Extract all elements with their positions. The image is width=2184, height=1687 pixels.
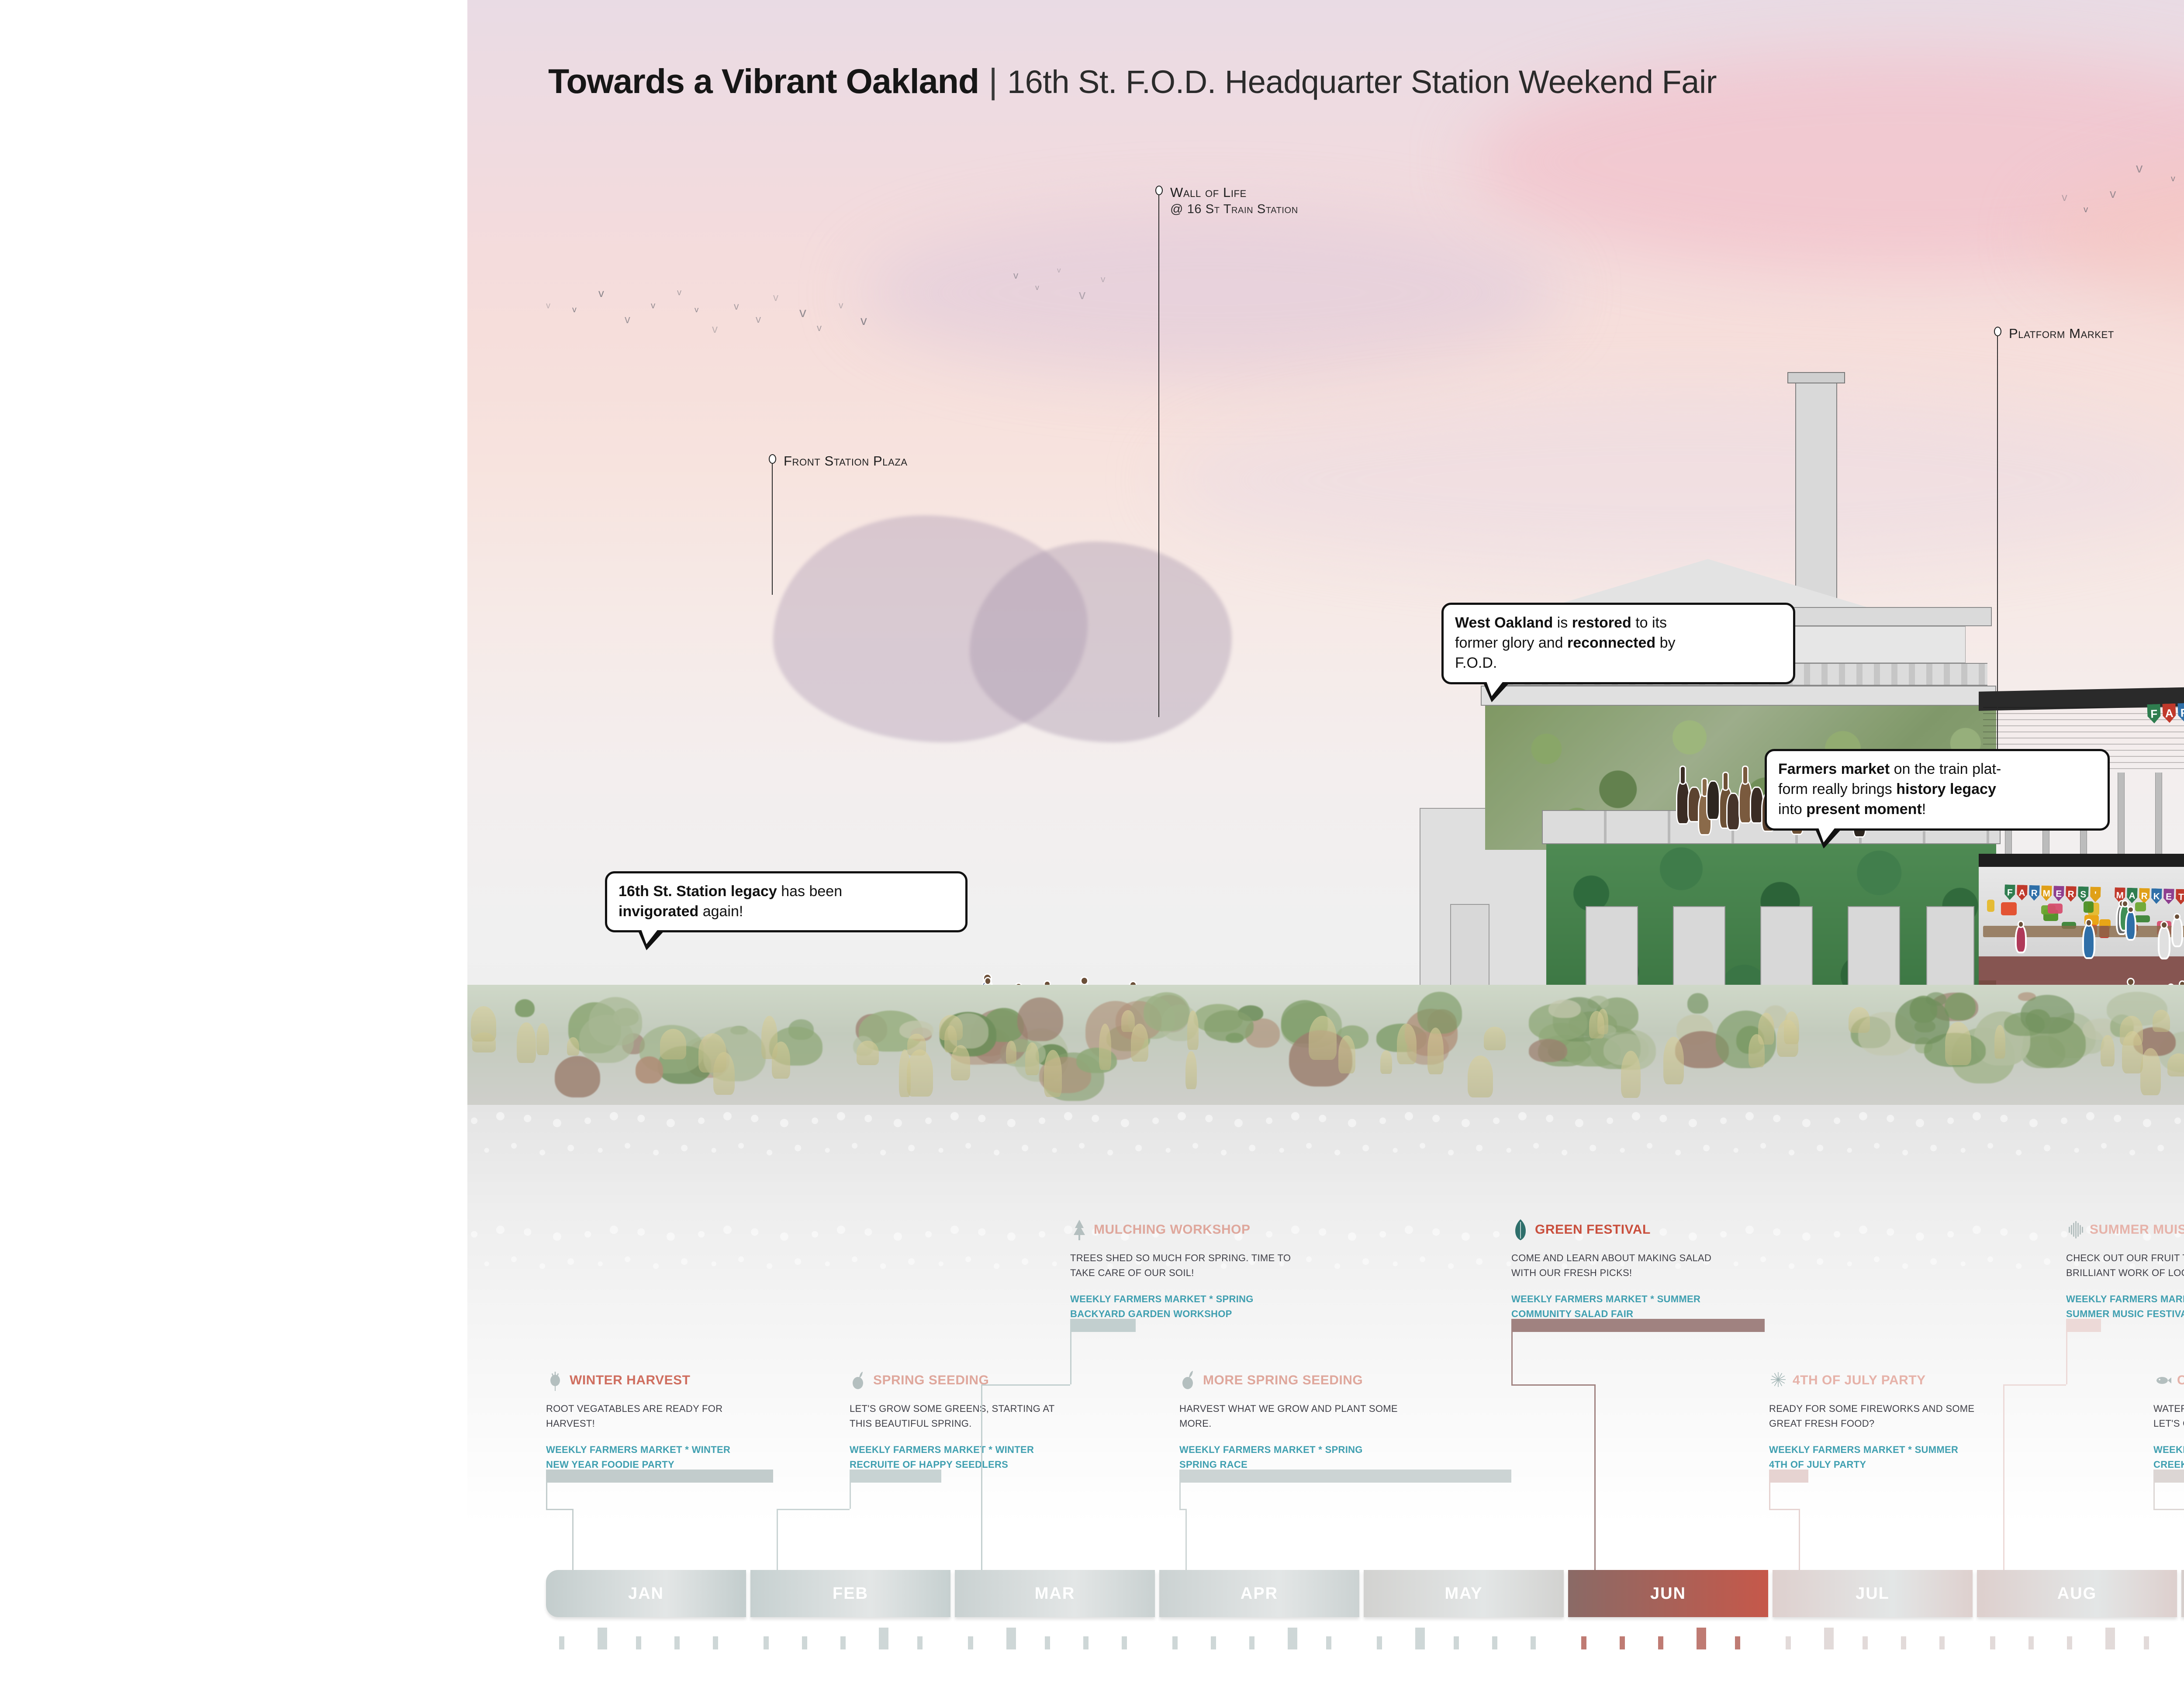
event-description: HARVEST WHAT WE GROW AND PLANT SOME MORE… [1179, 1401, 1406, 1431]
grass-tuft [1121, 1010, 1135, 1032]
bird-icon: ᴠ [2110, 188, 2116, 200]
legacy-bubble: 16th St. Station legacy has beeninvigora… [605, 871, 968, 932]
scene-person-head [2175, 914, 2179, 919]
event-connector-step [777, 1509, 850, 1510]
callout-sublabel: @ 16 St Train Station [1170, 201, 1298, 217]
bubble-line: invigorated again! [619, 901, 955, 921]
firework-icon [1769, 1369, 1787, 1392]
shrub [515, 999, 535, 1018]
smokestack-cap [1787, 372, 1845, 383]
station-pediment [1546, 559, 1870, 608]
mural-person [1689, 788, 1700, 821]
bird-icon: ᴠ [2136, 162, 2143, 175]
bird-icon: ᴠ [839, 301, 843, 310]
grass-tuft [1338, 1035, 1355, 1073]
event-connector [2153, 1483, 2155, 1509]
bubble-line: into present moment! [1778, 799, 2097, 819]
tree-icon [1070, 1218, 1089, 1241]
perspective-rendering: ᴠᴠᴠᴠᴠᴠᴠᴠᴠᴠᴠᴠᴠᴠᴠᴠᴠᴠᴠᴠᴠᴠᴠᴠᴠᴠᴠᴠᴠ FARMERS' M… [467, 0, 2184, 1105]
timeline-event-creek-harvest[interactable]: CREEK HARVESTWATER IS SO GENEROUS FOR OU… [2153, 1369, 2184, 1472]
event-program-list: WEEKLY FARMERS MARKET * WINTERNEW YEAR F… [546, 1442, 773, 1472]
grass-tuft [761, 1016, 778, 1059]
timeline-event-fourth-of-july-party[interactable]: 4TH OF JULY PARTYREADY FOR SOME FIREWORK… [1769, 1369, 1996, 1472]
month-jan[interactable]: JAN [546, 1570, 746, 1617]
week-tick [1492, 1636, 1497, 1649]
scene-person-head [1082, 978, 1087, 984]
grass-tuft [1044, 1050, 1062, 1097]
event-header: MULCHING WORKSHOP [1070, 1218, 1297, 1241]
shrub [1687, 993, 1708, 1014]
bubble-line: form really brings history legacy [1778, 779, 2097, 799]
event-program-list: WEEKLY FARMERS MARKET * SUMMERSUMMER MUS… [2066, 1292, 2184, 1321]
week-tick [2028, 1636, 2034, 1649]
event-connector-step [2003, 1384, 2066, 1386]
raised-fist [1681, 767, 1685, 783]
week-tick [1083, 1636, 1089, 1649]
week-tick [1697, 1628, 1706, 1649]
event-connector-step [1179, 1509, 1185, 1510]
grass-tuft [567, 1037, 579, 1056]
callout-label: Front Station Plaza [784, 452, 908, 470]
event-connector [1769, 1483, 1770, 1509]
bubble-tail [1815, 828, 1842, 849]
week-tick [840, 1636, 846, 1649]
shrub [589, 997, 642, 1045]
beet-icon [546, 1369, 564, 1392]
scene-person-head [2123, 901, 2127, 906]
grass-tuft [1185, 1051, 1196, 1089]
event-header: CREEK HARVEST [2153, 1369, 2184, 1392]
timeline-event-green-festival[interactable]: GREEN FESTIVALCOME AND LEARN ABOUT MAKIN… [1511, 1218, 1738, 1321]
week-tick [1824, 1628, 1834, 1649]
pin-leader-line [1997, 336, 1998, 799]
bird-icon: ᴠ [677, 288, 681, 297]
event-program-list: WEEKLY FARMERS MARKET * WINTERRECRUITE O… [850, 1442, 1077, 1472]
event-connector-step [2153, 1509, 2184, 1510]
mural-person [1728, 794, 1739, 829]
event-title: GREEN FESTIVAL [1535, 1222, 1651, 1237]
bubble-tail [1483, 682, 1510, 702]
timeline-event-winter-harvest[interactable]: WINTER HARVESTROOT VEGATABLES ARE READY … [546, 1369, 773, 1472]
grass-tuft [2140, 1048, 2160, 1095]
mural-person [1751, 788, 1762, 822]
week-tick [1581, 1636, 1586, 1649]
title-divider: | [988, 61, 998, 101]
bird-icon: ᴠ [860, 314, 867, 327]
grass-tuft [1749, 1034, 1765, 1067]
event-description: COME AND LEARN ABOUT MAKING SALAD WITH O… [1511, 1251, 1738, 1280]
event-connector [1511, 1332, 1513, 1384]
shrub [1548, 1000, 1581, 1018]
grass-tuft [1397, 1024, 1417, 1064]
month-sep[interactable]: SEP [2181, 1570, 2184, 1617]
week-tick [2067, 1636, 2072, 1649]
produce-crate [2084, 901, 2094, 913]
event-title: SPRING SEEDING [873, 1373, 989, 1388]
week-tick [1045, 1636, 1050, 1649]
grass-tuft [1025, 1042, 1039, 1075]
soundwave-icon [2066, 1218, 2084, 1241]
grass-tuft [1468, 1056, 1493, 1097]
week-tick [1377, 1636, 1382, 1649]
timeline-event-more-spring-seeding[interactable]: MORE SPRING SEEDINGHARVEST WHAT WE GROW … [1179, 1369, 1406, 1472]
grass-tuft [857, 1041, 878, 1065]
bird-icon: ᴠ [2062, 192, 2067, 204]
grass-tuft [1663, 1037, 1684, 1084]
grass-tuft [1849, 1007, 1870, 1033]
event-program-item: WEEKLY FARMERS MARKET * WINTER [850, 1442, 1077, 1457]
week-tick-group [467, 1627, 2184, 1649]
event-program-item: WEEKLY FARMERS MARKET * SUMMER [1769, 1442, 1996, 1457]
event-program-item: WEEKLY FARMERS MARKET * FALL [2153, 1442, 2184, 1457]
event-duration-bar [1179, 1470, 1511, 1483]
event-title: MORE SPRING SEEDING [1203, 1373, 1363, 1388]
event-program-item: WEEKLY FARMERS MARKET * SPRING [1070, 1292, 1297, 1307]
grass-tuft [1427, 1028, 1444, 1074]
grass-tuft [1945, 1022, 1971, 1065]
canopy-column [2118, 773, 2125, 856]
grass-tuft [471, 1006, 496, 1042]
bird-icon: ᴠ [2171, 175, 2175, 183]
event-program-list: WEEKLY FARMERS MARKET * SUMMERCOMMUNITY … [1511, 1292, 1738, 1321]
event-header: MORE SPRING SEEDING [1179, 1369, 1406, 1392]
farmers-market-bubble: Farmers market on the train plat-form re… [1765, 749, 2110, 831]
event-title: CREEK HARVEST [2177, 1373, 2184, 1388]
pin-marker-icon [1155, 186, 1163, 195]
event-title: 4TH OF JULY PARTY [1793, 1373, 1926, 1388]
bird-icon: ᴠ [734, 301, 739, 311]
week-tick [1326, 1636, 1331, 1649]
week-tick [2105, 1628, 2115, 1649]
week-tick [674, 1636, 680, 1649]
event-program-list: WEEKLY FARMERS MARKET * FALLCREEK HARVES… [2153, 1442, 2184, 1472]
seasonal-timeline: WINTER HARVESTROOT VEGATABLES ARE READY … [467, 1105, 2184, 1687]
event-connector-step [546, 1509, 572, 1510]
week-tick [636, 1636, 641, 1649]
grass-tuft [2101, 1035, 2115, 1066]
bird-icon: ᴠ [712, 323, 718, 335]
bird-icon: ᴠ [756, 314, 761, 325]
scene-person-head [2128, 979, 2133, 985]
shrub [1017, 997, 1063, 1041]
week-tick [802, 1636, 807, 1649]
week-tick [1901, 1636, 1906, 1649]
raised-fist [1724, 773, 1728, 790]
week-tick [1735, 1636, 1740, 1649]
bubble-line: F.O.D. [1455, 653, 1783, 673]
bird-icon: ᴠ [546, 301, 550, 310]
week-tick [1288, 1628, 1297, 1649]
event-duration-bar [2066, 1319, 2101, 1332]
grass-tuft [1187, 1011, 1198, 1050]
event-description: ROOT VEGATABLES ARE READY FOR HARVEST! [546, 1401, 773, 1431]
event-header: SPRING SEEDING [850, 1369, 1077, 1392]
timeline-event-summer-music-festival[interactable]: SUMMER MUISIC FESTIVALCHECK OUT OUR FRUI… [2066, 1218, 2184, 1321]
grass-tuft [1309, 1016, 1336, 1060]
presentation-board: ᴠᴠᴠᴠᴠᴠᴠᴠᴠᴠᴠᴠᴠᴠᴠᴠᴠᴠᴠᴠᴠᴠᴠᴠᴠᴠᴠᴠᴠ FARMERS' M… [0, 0, 2184, 1687]
week-tick [1415, 1628, 1425, 1649]
event-header: WINTER HARVEST [546, 1369, 773, 1392]
week-tick [1990, 1636, 1995, 1649]
bird-icon: ᴠ [1101, 275, 1105, 284]
bird-icon: ᴠ [1013, 271, 1018, 280]
bird-icon: ᴠ [1057, 266, 1061, 274]
week-tick [713, 1636, 718, 1649]
event-connector-step [981, 1384, 1070, 1386]
shrub [1226, 1033, 1244, 1043]
sprout-icon [1179, 1369, 1198, 1392]
event-duration-bar [1511, 1319, 1765, 1332]
week-tick [2144, 1636, 2149, 1649]
grass-tuft [536, 1023, 549, 1055]
leaf-icon [1511, 1218, 1530, 1241]
callout-label: Wall of Life@ 16 St Train Station [1170, 184, 1298, 217]
event-duration-bar [850, 1470, 941, 1483]
bird-icon: ᴠ [625, 314, 630, 326]
event-program-item: WEEKLY FARMERS MARKET * SUMMER [1511, 1292, 1738, 1307]
event-title: MULCHING WORKSHOP [1094, 1222, 1250, 1237]
shrub [636, 1056, 663, 1083]
week-tick [1211, 1636, 1216, 1649]
event-program-item: WEEKLY FARMERS MARKET * SUMMER [2066, 1292, 2184, 1307]
seedling-icon [850, 1369, 868, 1392]
bird-icon: ᴠ [1079, 288, 1085, 301]
grass-tuft [951, 1045, 970, 1080]
produce-crate [2001, 902, 2017, 915]
restoration-bubble: West Oakland is restored to itsformer gl… [1441, 603, 1795, 684]
raised-fist [1703, 779, 1707, 796]
week-tick [1620, 1636, 1625, 1649]
scene-person [2173, 918, 2181, 945]
event-connector [850, 1483, 851, 1509]
week-tick [1122, 1636, 1127, 1649]
produce-crate [2135, 915, 2150, 923]
scene-person [2127, 912, 2135, 939]
bird-icon: ᴠ [572, 306, 577, 314]
grass-tuft [1777, 1020, 1799, 1056]
grass-tuft [1589, 1011, 1604, 1038]
event-connector [1179, 1483, 1181, 1509]
grass-tuft [2122, 1031, 2143, 1073]
stall-table [1983, 926, 2184, 937]
canopy-column [2155, 773, 2162, 856]
event-title: SUMMER MUISIC FESTIVAL [2090, 1222, 2184, 1237]
grass-tuft [1099, 1024, 1112, 1070]
month-jun[interactable]: JUN [1568, 1570, 1768, 1617]
event-connector-step [1511, 1384, 1594, 1386]
grass-tuft [1006, 1041, 1016, 1064]
page-title: Towards a Vibrant Oakland | 16th St. F.O… [548, 61, 1717, 101]
event-description: CHECK OUT OUR FRUIT TREES AND THE BRILLI… [2066, 1251, 2184, 1280]
pin-marker-icon [1994, 327, 2001, 336]
grass-tuft [698, 1033, 726, 1073]
week-tick [1939, 1636, 1945, 1649]
bird-icon: ᴠ [598, 288, 604, 300]
bird-icon: ᴠ [651, 301, 655, 310]
scene-person-head [2019, 922, 2023, 927]
week-tick [1658, 1636, 1663, 1649]
title-main: Towards a Vibrant Oakland [548, 61, 979, 101]
scene-person-head [2129, 907, 2132, 912]
week-tick [1531, 1636, 1536, 1649]
event-program-list: WEEKLY FARMERS MARKET * SPRINGSPRING RAC… [1179, 1442, 1406, 1472]
platform-edge-beam [1979, 854, 2184, 869]
grass-tuft [2153, 1010, 2170, 1032]
bubble-tail [638, 930, 665, 950]
bird-icon: ᴠ [1035, 284, 1039, 292]
grass-tuft [1484, 1027, 1506, 1051]
event-description: LET'S GROW SOME GREENS, STARTING AT THIS… [850, 1401, 1077, 1431]
event-program-item: WEEKLY FARMERS MARKET * SPRING [1179, 1442, 1406, 1457]
week-tick [1786, 1636, 1791, 1649]
event-program-list: WEEKLY FARMERS MARKET * SUMMER4TH OF JUL… [1769, 1442, 1996, 1472]
fish-icon [2153, 1369, 2172, 1392]
grass-tuft [907, 1049, 933, 1097]
month-mar[interactable]: MAR [955, 1570, 1155, 1617]
event-duration-bar [1769, 1470, 1808, 1483]
bubble-line: former glory and reconnected by [1455, 633, 1783, 653]
grass-tuft [2167, 1053, 2184, 1076]
mural-person [1740, 782, 1751, 822]
month-jul[interactable]: JUL [1773, 1570, 1973, 1617]
event-duration-bar [2153, 1470, 2184, 1483]
week-tick [598, 1628, 607, 1649]
event-duration-bar [546, 1470, 773, 1483]
event-connector [546, 1483, 547, 1509]
event-duration-bar [1070, 1319, 1136, 1332]
produce-crate [2135, 902, 2146, 911]
grass-tuft [1994, 1025, 2005, 1059]
raised-fist [1743, 767, 1747, 783]
shrub [1945, 993, 1976, 1021]
grass-tuft [517, 1022, 536, 1063]
event-title: WINTER HARVEST [570, 1373, 690, 1388]
month-may[interactable]: MAY [1364, 1570, 1564, 1617]
title-subtitle: 16th St. F.O.D. Headquarter Station Week… [1007, 63, 1717, 100]
event-description: WATER IS SO GENEROUS FOR OUR FARM. LET'S… [2153, 1401, 2184, 1431]
event-program-item: WEEKLY FARMERS MARKET * WINTER [546, 1442, 773, 1457]
week-tick [879, 1628, 888, 1649]
week-tick [968, 1636, 973, 1649]
week-tick [764, 1636, 769, 1649]
week-tick [1863, 1636, 1868, 1649]
produce-crate [2048, 904, 2063, 914]
shrub [1144, 992, 1190, 1032]
event-connector [2066, 1332, 2067, 1384]
event-program-list: WEEKLY FARMERS MARKET * SPRINGBACKYARD G… [1070, 1292, 1297, 1321]
station-entablature [1481, 686, 1996, 706]
pin-leader-line [1158, 195, 1159, 717]
grass-tuft [939, 1015, 962, 1040]
produce-crate [1987, 900, 1994, 912]
mural-person [1677, 782, 1689, 823]
bird-icon: ᴠ [817, 323, 822, 333]
grass-tuft [1621, 1051, 1641, 1098]
mural-person [1707, 782, 1719, 819]
bubble-line: Farmers market on the train plat- [1778, 759, 2097, 779]
scene-person [2017, 926, 2025, 952]
event-header: 4TH OF JULY PARTY [1769, 1369, 1996, 1392]
event-header: SUMMER MUISIC FESTIVAL [2066, 1218, 2184, 1241]
scene-person-head [985, 978, 990, 983]
week-tick [1172, 1636, 1178, 1649]
callout-label: Platform Market [2009, 325, 2114, 342]
bird-icon: ᴠ [2084, 205, 2088, 214]
shrub [555, 1056, 600, 1097]
week-tick [559, 1636, 564, 1649]
event-description: TREES SHED SO MUCH FOR SPRING. TIME TO T… [1070, 1251, 1297, 1280]
event-header: GREEN FESTIVAL [1511, 1218, 1738, 1241]
shrub [1529, 1039, 1567, 1062]
scene-person [2160, 927, 2169, 958]
event-connector [1070, 1332, 1071, 1384]
event-connector-step [1769, 1509, 1799, 1510]
shrub [1417, 992, 1462, 1034]
grass-tuft [660, 1029, 686, 1059]
bird-icon: ᴠ [773, 293, 778, 303]
timeline-event-mulching-workshop[interactable]: MULCHING WORKSHOPTREES SHED SO MUCH FOR … [1070, 1218, 1297, 1321]
bird-icon: ᴠ [695, 306, 698, 314]
month-apr[interactable]: APR [1159, 1570, 1359, 1617]
week-tick [1454, 1636, 1459, 1649]
month-feb[interactable]: FEB [750, 1570, 950, 1617]
month-bar: JANFEBMARAPRMAYJUNJULAUGSEPOCTNOVDEC [467, 1570, 2184, 1617]
background-tree [970, 542, 1232, 742]
pin-leader-line [772, 464, 773, 595]
scene-person [2084, 925, 2093, 958]
grass-tuft [1380, 1050, 1393, 1074]
bubble-line: 16th St. Station legacy has been [619, 881, 955, 901]
week-tick [1006, 1628, 1016, 1649]
grass-tuft [1131, 1024, 1148, 1061]
month-aug[interactable]: AUG [1977, 1570, 2177, 1617]
pin-marker-icon [769, 454, 776, 464]
week-tick [917, 1636, 923, 1649]
shrub [2021, 995, 2074, 1033]
shrub [1895, 997, 1949, 1044]
week-tick [1249, 1636, 1254, 1649]
event-description: READY FOR SOME FIREWORKS AND SOME GREAT … [1769, 1401, 1996, 1431]
bird-icon: ᴠ [799, 306, 806, 320]
bubble-line: West Oakland is restored to its [1455, 613, 1783, 633]
